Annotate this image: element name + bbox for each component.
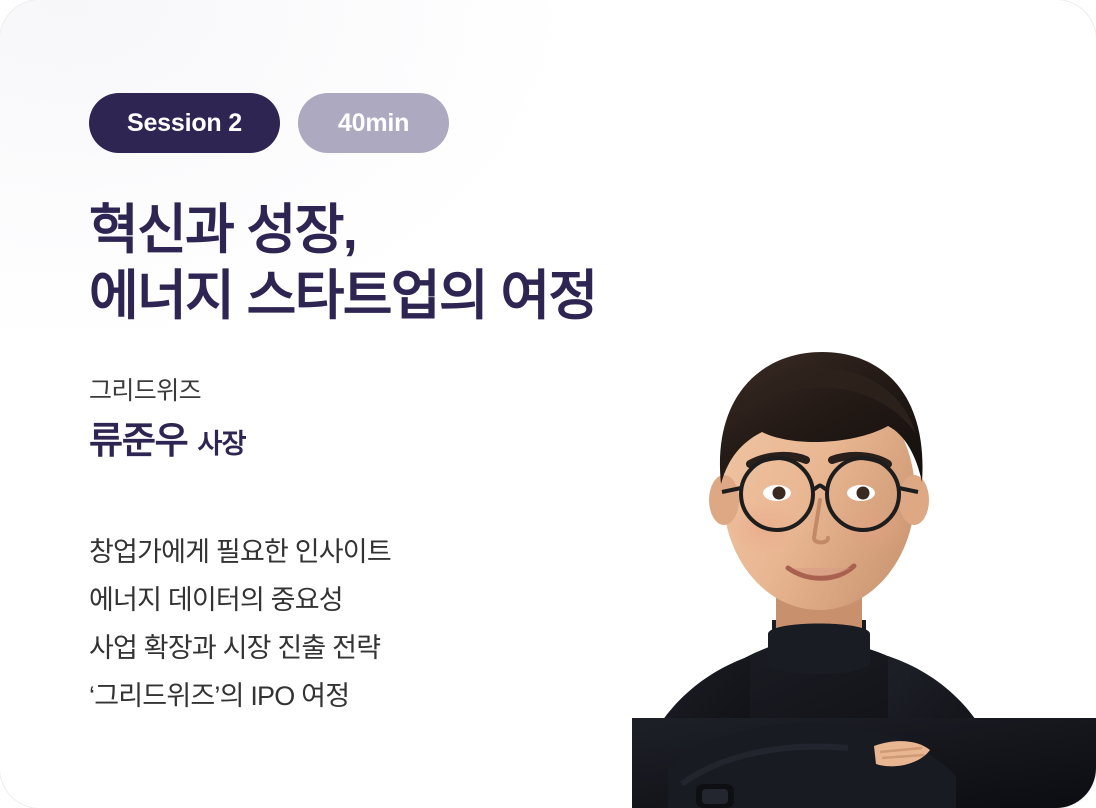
session-card: Session 2 40min 혁신과 성장, 에너지 스타트업의 여정 그리드… xyxy=(0,0,1096,808)
speaker-block: 그리드위즈 류준우 사장 xyxy=(89,376,1096,462)
topic-item: 사업 확장과 시장 진출 전략 xyxy=(89,624,1096,672)
badge-row: Session 2 40min xyxy=(89,93,1096,153)
session-title-line-1: 혁신과 성장, xyxy=(89,197,1096,263)
topic-item: ‘그리드위즈’의 IPO 여정 xyxy=(89,672,1096,720)
speaker-name: 류준우 xyxy=(89,421,188,462)
session-title-line-2: 에너지 스타트업의 여정 xyxy=(89,263,1096,329)
session-title: 혁신과 성장, 에너지 스타트업의 여정 xyxy=(89,197,1096,330)
topic-list: 창업가에게 필요한 인사이트 에너지 데이터의 중요성 사업 확장과 시장 진출… xyxy=(89,528,1096,720)
speaker-organization: 그리드위즈 xyxy=(89,376,1096,407)
duration-badge: 40min xyxy=(298,93,449,153)
speaker-name-row: 류준우 사장 xyxy=(89,421,1096,462)
card-content: Session 2 40min 혁신과 성장, 에너지 스타트업의 여정 그리드… xyxy=(0,0,1096,720)
topic-item: 창업가에게 필요한 인사이트 xyxy=(89,528,1096,576)
speaker-role: 사장 xyxy=(198,430,246,460)
session-badge: Session 2 xyxy=(89,93,280,153)
topic-item: 에너지 데이터의 중요성 xyxy=(89,576,1096,624)
